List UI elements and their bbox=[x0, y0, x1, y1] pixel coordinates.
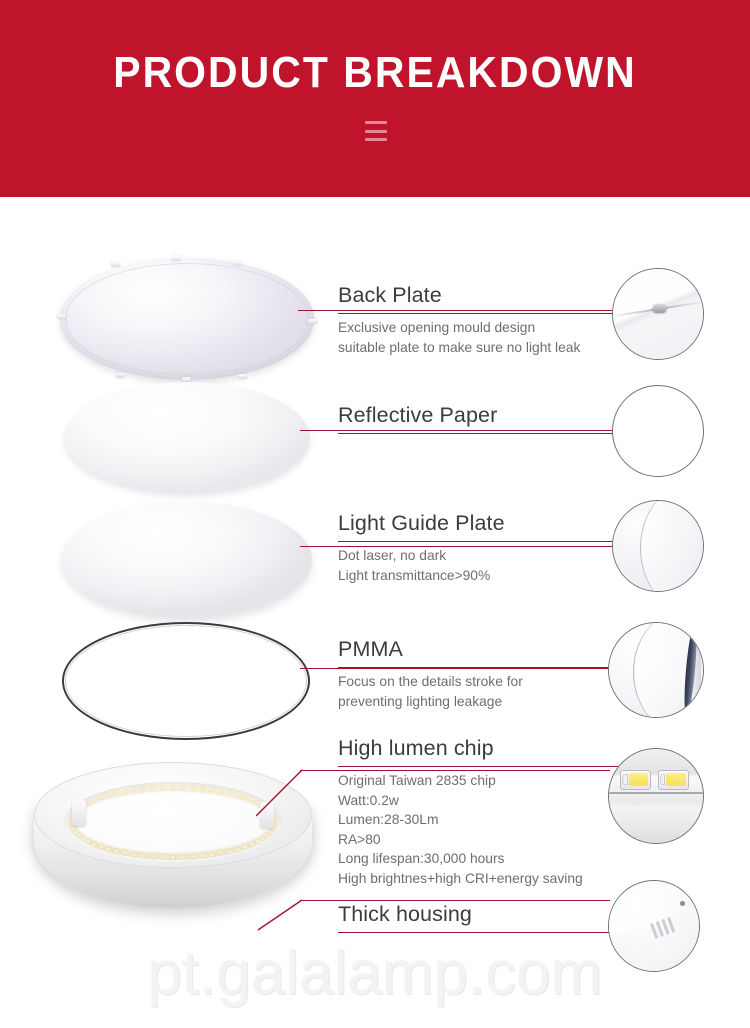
section-rule bbox=[338, 766, 638, 767]
section-title: Thick housing bbox=[338, 903, 628, 927]
section-title: Back Plate bbox=[338, 284, 628, 308]
section-body-line: Original Taiwan 2835 chip bbox=[338, 771, 638, 791]
section-body-line: Lumen:28-30Lm bbox=[338, 810, 638, 830]
section-body-line: Light transmittance>90% bbox=[338, 566, 628, 586]
section-title: Light Guide Plate bbox=[338, 512, 628, 536]
product-breakdown-infographic: PRODUCT BREAKDOWN bbox=[0, 0, 750, 1028]
back-plate-closeup-circle bbox=[612, 268, 704, 360]
section-body-line: Long lifespan:30,000 hours bbox=[338, 849, 638, 869]
section-body-line: High brightnes+high CRI+energy saving bbox=[338, 869, 638, 889]
section-back-plate: Back Plate Exclusive opening mould desig… bbox=[338, 284, 628, 357]
light-guide-plate-disc bbox=[62, 502, 312, 618]
back-plate-rim bbox=[65, 263, 309, 375]
reflective-paper-closeup-circle bbox=[612, 385, 704, 477]
section-body: Focus on the details stroke for preventi… bbox=[338, 672, 628, 711]
section-light-guide-plate: Light Guide Plate Dot laser, no dark Lig… bbox=[338, 512, 628, 585]
section-rule bbox=[338, 932, 628, 933]
screw-clip-icon bbox=[653, 305, 666, 313]
section-pmma: PMMA Focus on the details stroke for pre… bbox=[338, 638, 628, 711]
section-reflective-paper: Reflective Paper bbox=[338, 404, 628, 434]
led-chip-closeup-circle bbox=[608, 748, 704, 844]
section-body-line: Dot laser, no dark bbox=[338, 546, 628, 566]
section-rule bbox=[338, 313, 628, 314]
section-rule bbox=[338, 433, 628, 434]
led-smd-chip bbox=[620, 770, 651, 790]
section-title: PMMA bbox=[338, 638, 628, 662]
hamburger-divider-icon bbox=[365, 121, 387, 141]
led-smd-chip bbox=[658, 770, 689, 790]
reflective-paper-disc bbox=[64, 382, 310, 494]
section-body-line: preventing lighting leakage bbox=[338, 692, 628, 712]
pmma-ring bbox=[62, 622, 310, 740]
section-body-line: Watt:0.2w bbox=[338, 791, 638, 811]
back-plate-disc bbox=[60, 258, 314, 380]
section-high-lumen-chip: High lumen chip Original Taiwan 2835 chi… bbox=[338, 737, 638, 889]
section-body-line: Focus on the details stroke for bbox=[338, 672, 628, 692]
housing-closeup-circle bbox=[608, 880, 700, 972]
pmma-closeup-circle bbox=[608, 622, 704, 718]
section-thick-housing: Thick housing bbox=[338, 903, 628, 933]
page-title: PRODUCT BREAKDOWN bbox=[26, 48, 724, 98]
section-rule bbox=[338, 541, 628, 542]
section-body: Exclusive opening mould design suitable … bbox=[338, 318, 628, 357]
section-body-line: suitable plate to make sure no light lea… bbox=[338, 338, 628, 358]
header-banner: PRODUCT BREAKDOWN bbox=[0, 0, 750, 197]
section-body: Dot laser, no dark Light transmittance>9… bbox=[338, 546, 628, 585]
led-dots bbox=[68, 784, 278, 860]
section-title: High lumen chip bbox=[338, 737, 638, 761]
section-body-line: RA>80 bbox=[338, 830, 638, 850]
section-title: Reflective Paper bbox=[338, 404, 628, 428]
section-rule bbox=[338, 667, 628, 668]
light-guide-plate-closeup-circle bbox=[612, 500, 704, 592]
section-body: Original Taiwan 2835 chip Watt:0.2w Lume… bbox=[338, 771, 638, 888]
section-body-line: Exclusive opening mould design bbox=[338, 318, 628, 338]
